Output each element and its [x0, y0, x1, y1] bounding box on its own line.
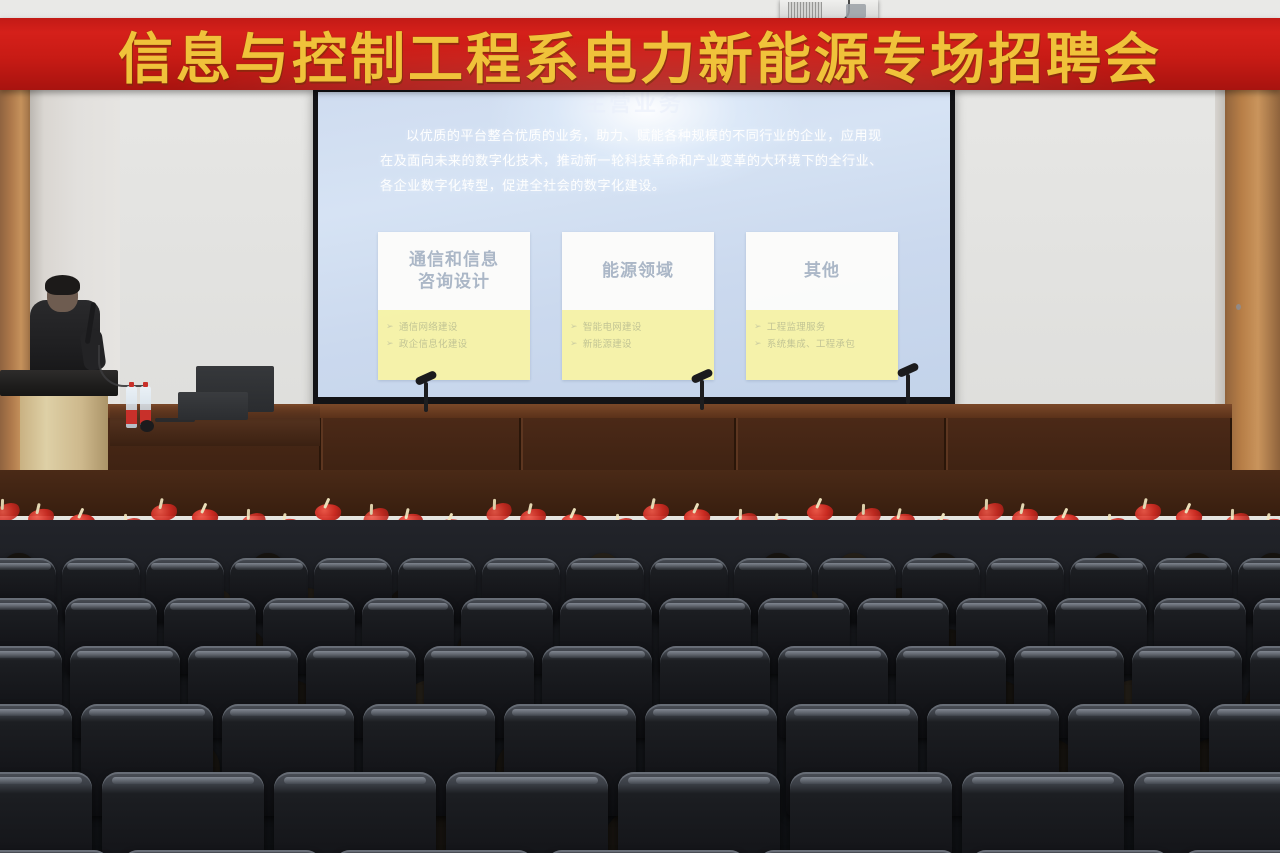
bullet-label: 工程监理服务 [767, 319, 826, 336]
auditorium-photo-scene: 主营业务 以优质的平台整合优质的业务，助力、赋能各种规模的不同行业的企业，应用现… [0, 0, 1280, 853]
slide-card-row: 通信和信息 咨询设计 ➢ 通信网络建设 ➢ 政企信息化建设 [378, 232, 898, 380]
audience-area [0, 520, 1280, 853]
speaker-hair [45, 275, 80, 295]
card-title: 其他 [746, 232, 898, 310]
slide-title: 主营业务 [318, 92, 950, 118]
auditorium-seat[interactable] [0, 772, 92, 853]
podium-top [0, 370, 118, 396]
card-title-line: 通信和信息 [409, 250, 499, 270]
banner-title: 信息与控制工程系电力新能源专场招聘会 [0, 18, 1280, 90]
projection-screen: 主营业务 以优质的平台整合优质的业务，助力、赋能各种规模的不同行业的企业，应用现… [318, 92, 950, 397]
microphone-icon [700, 380, 704, 410]
projector-vent [788, 2, 822, 18]
slide-card: 其他 ➢ 工程监理服务 ➢ 系统集成、工程承包 [746, 232, 898, 380]
wall-fixture-dot [1236, 304, 1241, 310]
chevron-right-icon: ➢ [570, 319, 578, 336]
bottle-cap [143, 382, 148, 387]
bullet-item: ➢ 通信网络建设 [386, 319, 522, 336]
card-title: 通信和信息 咨询设计 [378, 232, 530, 310]
auditorium-seat[interactable] [962, 772, 1124, 853]
auditorium-seat[interactable] [274, 772, 436, 853]
bullet-label: 政企信息化建设 [399, 336, 468, 353]
slide-card: 能源领域 ➢ 智能电网建设 ➢ 新能源建设 [562, 232, 714, 380]
card-title-line: 能源领域 [602, 260, 674, 282]
auditorium-seat[interactable] [790, 772, 952, 853]
chevron-right-icon: ➢ [386, 319, 394, 336]
presentation-laptop-base [178, 392, 248, 420]
card-bullet-list: ➢ 工程监理服务 ➢ 系统集成、工程承包 [746, 310, 898, 380]
wooden-pillar-right [1225, 86, 1280, 526]
bullet-item: ➢ 系统集成、工程承包 [754, 336, 890, 353]
card-title-line: 其他 [804, 260, 840, 282]
card-bullet-list: ➢ 通信网络建设 ➢ 政企信息化建设 [378, 310, 530, 380]
event-banner: 信息与控制工程系电力新能源专场招聘会 [0, 18, 1280, 90]
bullet-item: ➢ 工程监理服务 [754, 319, 890, 336]
chevron-right-icon: ➢ [754, 336, 762, 353]
slide-card: 通信和信息 咨询设计 ➢ 通信网络建设 ➢ 政企信息化建设 [378, 232, 530, 380]
chevron-right-icon: ➢ [570, 336, 578, 353]
bullet-label: 新能源建设 [583, 336, 632, 353]
microphone-icon [906, 374, 910, 404]
card-title: 能源领域 [562, 232, 714, 310]
auditorium-seat[interactable] [618, 772, 780, 853]
projector-lens-icon [846, 4, 866, 18]
bullet-item: ➢ 新能源建设 [570, 336, 706, 353]
auditorium-seat[interactable] [446, 772, 608, 853]
water-bottle [126, 386, 137, 428]
bullet-label: 通信网络建设 [399, 319, 458, 336]
projection-screen-frame: 主营业务 以优质的平台整合优质的业务，助力、赋能各种规模的不同行业的企业，应用现… [313, 88, 955, 408]
bullet-label: 智能电网建设 [583, 319, 642, 336]
bullet-label: 系统集成、工程承包 [767, 336, 855, 353]
microphone-icon [424, 382, 428, 412]
chevron-right-icon: ➢ [386, 336, 394, 353]
auditorium-seat[interactable] [1134, 772, 1280, 853]
card-title-line: 咨询设计 [418, 272, 490, 292]
card-bullet-list: ➢ 智能电网建设 ➢ 新能源建设 [562, 310, 714, 380]
desk-microphone-base [140, 420, 154, 432]
bottle-cap [129, 382, 134, 387]
auditorium-seat[interactable] [102, 772, 264, 853]
bullet-item: ➢ 智能电网建设 [570, 319, 706, 336]
slide-paragraph: 以优质的平台整合优质的业务，助力、赋能各种规模的不同行业的企业，应用现在及面向未… [380, 124, 890, 199]
bottle-label [126, 410, 137, 424]
chevron-right-icon: ➢ [754, 319, 762, 336]
bullet-item: ➢ 政企信息化建设 [386, 336, 522, 353]
